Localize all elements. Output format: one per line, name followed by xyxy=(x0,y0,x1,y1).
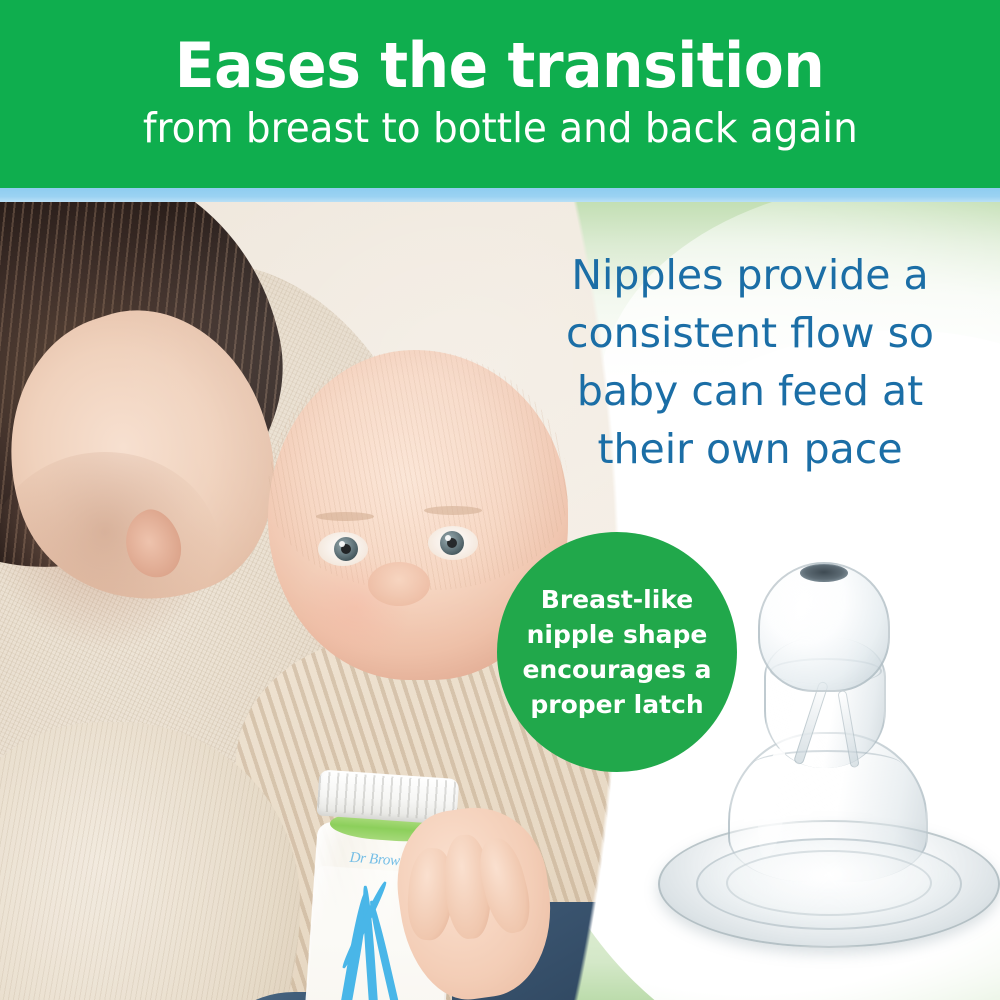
product-infographic: Dr Brown's xyxy=(0,0,1000,1000)
nipple-flow-hole xyxy=(800,564,848,582)
header-divider-rule xyxy=(0,188,1000,202)
benefit-copy-line-4: their own pace xyxy=(520,420,980,478)
callout-line-3: encourages a xyxy=(522,652,711,687)
page-title: Eases the transition xyxy=(175,34,825,98)
page-subtitle: from breast to bottle and back again xyxy=(142,104,857,152)
nipple-flange-inner-ring-2 xyxy=(726,850,932,916)
benefit-copy-block: Nipples provide a consistent flow so bab… xyxy=(520,246,980,478)
callout-badge: Breast-like nipple shape encourages a pr… xyxy=(497,532,737,772)
benefit-copy-line-2: consistent flow so xyxy=(520,304,980,362)
benefit-copy-line-3: baby can feed at xyxy=(520,362,980,420)
callout-line-2: nipple shape xyxy=(527,617,708,652)
callout-line-4: proper latch xyxy=(530,687,703,722)
benefit-copy-line-1: Nipples provide a xyxy=(520,246,980,304)
callout-line-1: Breast-like xyxy=(541,582,693,617)
header-banner: Eases the transition from breast to bott… xyxy=(0,0,1000,188)
